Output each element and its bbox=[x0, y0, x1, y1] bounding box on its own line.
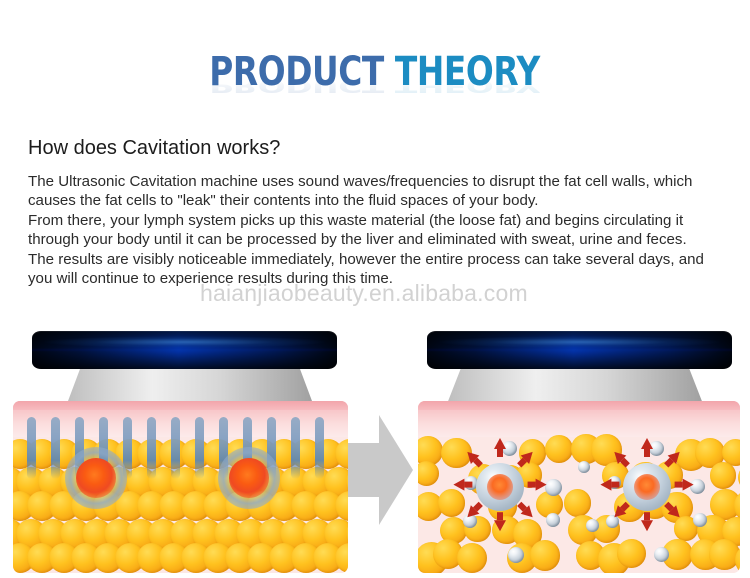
cavitation-hotspot bbox=[218, 447, 280, 509]
paragraph-3: The results are visibly noticeable immed… bbox=[28, 250, 728, 289]
fat-cell bbox=[438, 489, 465, 516]
paragraph-2: From there, your lymph system picks up t… bbox=[28, 211, 728, 250]
shockwave-arrow bbox=[683, 479, 694, 491]
page-title-reflection: PRODUCT THEORY bbox=[0, 95, 750, 135]
ultrasound-wave bbox=[291, 417, 300, 479]
cavitation-hotspot bbox=[65, 447, 127, 509]
fat-cell bbox=[710, 462, 737, 489]
page-title: PRODUCT THEORY bbox=[0, 52, 750, 92]
ultrasound-wave bbox=[147, 417, 156, 479]
fat-cell bbox=[530, 540, 561, 571]
released-bubble bbox=[654, 547, 669, 562]
before-cavitation-panel bbox=[10, 325, 355, 578]
released-bubble bbox=[546, 513, 560, 527]
fat-cell bbox=[418, 461, 439, 486]
cavitation-bubble-body bbox=[476, 463, 524, 511]
released-bubble bbox=[586, 519, 599, 532]
ultrasound-wave bbox=[195, 417, 204, 479]
title-word-theory: THEORY bbox=[395, 49, 540, 95]
cavitation-bubble bbox=[476, 463, 524, 511]
illustration bbox=[0, 325, 750, 578]
fat-cell bbox=[457, 543, 487, 573]
shockwave-arrow bbox=[536, 479, 547, 491]
section-heading: How does Cavitation works? bbox=[28, 137, 280, 160]
fat-cell bbox=[564, 489, 591, 516]
skin-cross-section bbox=[418, 401, 740, 573]
cavitation-bubble-body bbox=[623, 463, 671, 511]
paragraph-1: The Ultrasonic Cavitation machine uses s… bbox=[28, 172, 728, 211]
after-cavitation-panel bbox=[415, 325, 745, 578]
ultrasound-transducer-icon bbox=[32, 331, 337, 369]
flow-arrow-head bbox=[379, 415, 413, 525]
shockwave-arrow bbox=[641, 520, 653, 531]
ultrasound-wave bbox=[51, 417, 60, 479]
ultrasound-wave bbox=[27, 417, 36, 479]
body-text: The Ultrasonic Cavitation machine uses s… bbox=[28, 172, 728, 288]
shockwave-arrow bbox=[453, 479, 464, 491]
shockwave-arrow bbox=[494, 520, 506, 531]
released-bubble bbox=[508, 547, 524, 563]
hotspot-core bbox=[229, 458, 269, 498]
ultrasound-wave bbox=[171, 417, 180, 479]
ultrasound-wave bbox=[315, 417, 324, 479]
released-bubble bbox=[578, 461, 590, 473]
released-bubble bbox=[545, 479, 562, 496]
shockwave-arrow bbox=[641, 438, 653, 449]
released-bubble bbox=[693, 513, 707, 527]
shockwave-arrow bbox=[494, 438, 506, 449]
ultrasound-transducer-icon bbox=[427, 331, 732, 369]
cavitation-bubble bbox=[623, 463, 671, 511]
fat-cell bbox=[617, 539, 646, 568]
hotspot-core bbox=[76, 458, 116, 498]
skin-cross-section bbox=[13, 401, 348, 573]
process-flow-arrow-icon bbox=[345, 415, 413, 525]
title-word-product: PRODUCT bbox=[210, 49, 385, 95]
shockwave-arrow bbox=[600, 479, 611, 491]
